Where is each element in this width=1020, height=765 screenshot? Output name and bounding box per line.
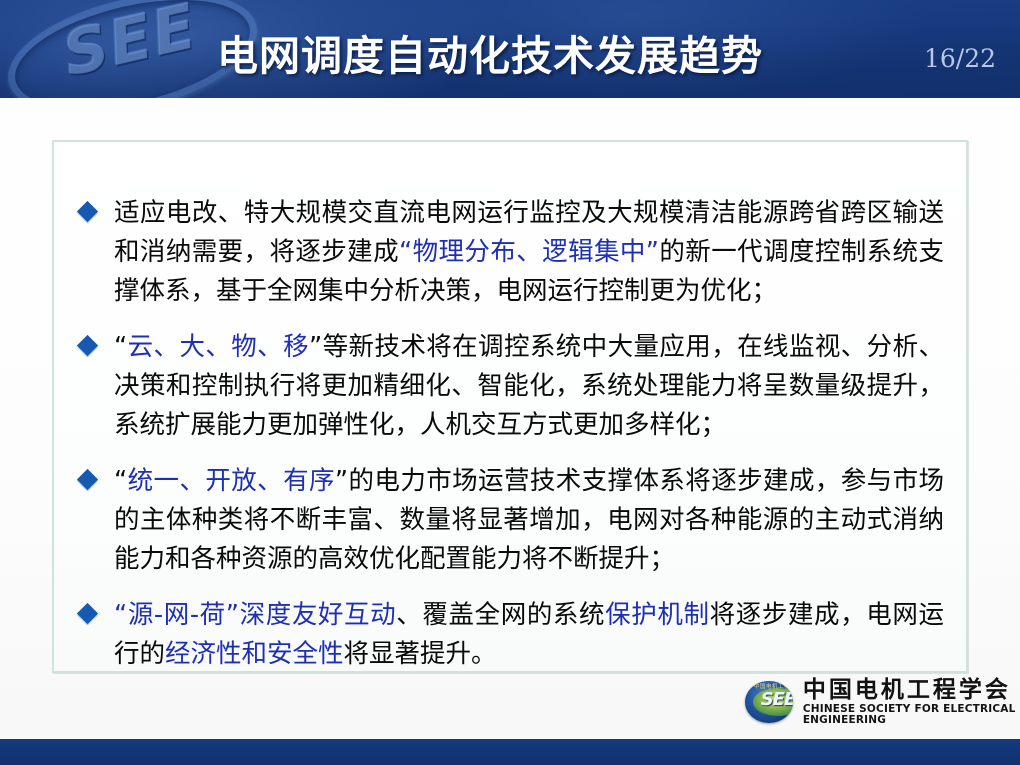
bullet-item: “云、大、物、移”等新技术将在调控系统中大量应用，在线监视、分析、决策和控制执行… xyxy=(68,328,944,445)
diamond-bullet-icon xyxy=(77,335,98,356)
diamond-bullet-icon xyxy=(77,603,98,624)
bottom-bar xyxy=(0,739,1020,765)
organization-name-en: CHINESE SOCIETY FOR ELECTRICAL ENGINEERI… xyxy=(803,704,1020,726)
see-emblem-icon: 中国电机工程学会 SEE xyxy=(745,681,793,723)
bullet-list: 适应电改、特大规模交直流电网运行监控及大规模清洁能源跨省跨区输送和消纳需要，将逐… xyxy=(68,194,944,674)
bullet-segment: 将显著提升。 xyxy=(344,639,497,669)
bullet-segment-highlight: 经济性和安全性 xyxy=(165,639,344,669)
slide-canvas: SEE 电网调度自动化技术发展趋势 16/22 适应电改、特大规模交直流电网运行… xyxy=(0,0,1020,765)
slide-header: SEE 电网调度自动化技术发展趋势 16/22 xyxy=(0,0,1020,98)
content-panel: 适应电改、特大规模交直流电网运行监控及大规模清洁能源跨省跨区输送和消纳需要，将逐… xyxy=(52,140,968,673)
bullet-segment-highlight: “物理分布、逻辑集中” xyxy=(399,237,659,267)
bullet-segment-highlight: “源-网-荷”深度友好互动 xyxy=(114,600,396,630)
bullet-item: 适应电改、特大规模交直流电网运行监控及大规模清洁能源跨省跨区输送和消纳需要，将逐… xyxy=(68,194,944,311)
diamond-bullet-icon xyxy=(77,469,98,490)
organization-logo: 中国电机工程学会 SEE 中国电机工程学会 CHINESE SOCIETY FO… xyxy=(745,678,1020,726)
page-title: 电网调度自动化技术发展趋势 xyxy=(0,22,1020,82)
bullet-segment: 、覆盖全网的系统 xyxy=(396,600,605,630)
emblem-see-text: SEE xyxy=(745,689,793,710)
bullet-segment: “ xyxy=(114,466,127,496)
page-number: 16/22 xyxy=(924,44,996,73)
organization-name-block: 中国电机工程学会 CHINESE SOCIETY FOR ELECTRICAL … xyxy=(803,678,1020,726)
bullet-item: “源-网-荷”深度友好互动、覆盖全网的系统保护机制将逐步建成，电网运行的经济性和… xyxy=(68,596,944,674)
bullet-item: “统一、开放、有序”的电力市场运营技术支撑体系将逐步建成，参与市场的主体种类将不… xyxy=(68,462,944,579)
diamond-bullet-icon xyxy=(77,201,98,222)
bullet-segment-highlight: 保护机制 xyxy=(605,600,709,630)
bullet-segment-highlight: 统一、开放、有序 xyxy=(127,466,335,496)
bullet-segment-highlight: 云、大、物、移 xyxy=(127,332,309,362)
bullet-segment: “ xyxy=(114,332,127,362)
organization-name-cn: 中国电机工程学会 xyxy=(803,678,1020,702)
